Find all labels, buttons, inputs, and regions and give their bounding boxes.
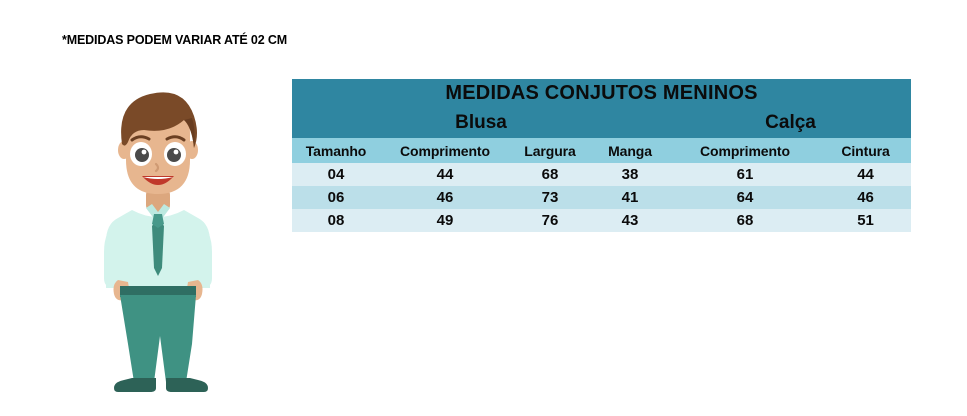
cell-blusa-largura: 68	[510, 163, 590, 186]
column-header-blusa-largura: Largura	[510, 138, 590, 163]
cell-blusa-largura: 73	[510, 186, 590, 209]
eye-highlight-left-shape	[142, 150, 147, 155]
cell-calca-comprimento: 61	[670, 163, 820, 186]
cell-blusa-manga: 38	[590, 163, 670, 186]
cell-calca-cintura: 44	[820, 163, 911, 186]
eye-highlight-right-shape	[174, 150, 179, 155]
cell-blusa-manga: 41	[590, 186, 670, 209]
table-group-row: Blusa Calça	[292, 108, 911, 138]
table-title: MEDIDAS CONJUTOS MENINOS	[292, 79, 911, 108]
measurement-variance-note: *MEDIDAS PODEM VARIAR ATÉ 02 CM	[62, 33, 287, 47]
iris-left-shape	[135, 148, 149, 162]
cell-calca-comprimento: 64	[670, 186, 820, 209]
group-header-blusa: Blusa	[292, 108, 670, 138]
column-header-tamanho: Tamanho	[292, 138, 380, 163]
column-header-blusa-comprimento: Comprimento	[380, 138, 510, 163]
shoe-right-shape	[166, 378, 208, 392]
size-chart-table: MEDIDAS CONJUTOS MENINOS Blusa Calça Tam…	[292, 79, 911, 232]
cell-tamanho: 06	[292, 186, 380, 209]
cell-blusa-comprimento: 46	[380, 186, 510, 209]
cell-calca-cintura: 46	[820, 186, 911, 209]
table-title-row: MEDIDAS CONJUTOS MENINOS	[292, 79, 911, 108]
iris-right-shape	[167, 148, 181, 162]
table-row: 06 46 73 41 64 46	[292, 186, 911, 209]
column-header-blusa-manga: Manga	[590, 138, 670, 163]
table-row: 04 44 68 38 61 44	[292, 163, 911, 186]
cell-blusa-comprimento: 44	[380, 163, 510, 186]
pants-shape	[120, 295, 196, 382]
table-bottom-edge	[292, 228, 911, 232]
table-column-header-row: Tamanho Comprimento Largura Manga Compri…	[292, 138, 911, 163]
cell-tamanho: 04	[292, 163, 380, 186]
column-header-calca-comprimento: Comprimento	[670, 138, 820, 163]
column-header-calca-cintura: Cintura	[820, 138, 911, 163]
group-header-calca: Calça	[670, 108, 911, 138]
shoe-left-shape	[114, 378, 156, 392]
boy-illustration	[88, 82, 228, 392]
